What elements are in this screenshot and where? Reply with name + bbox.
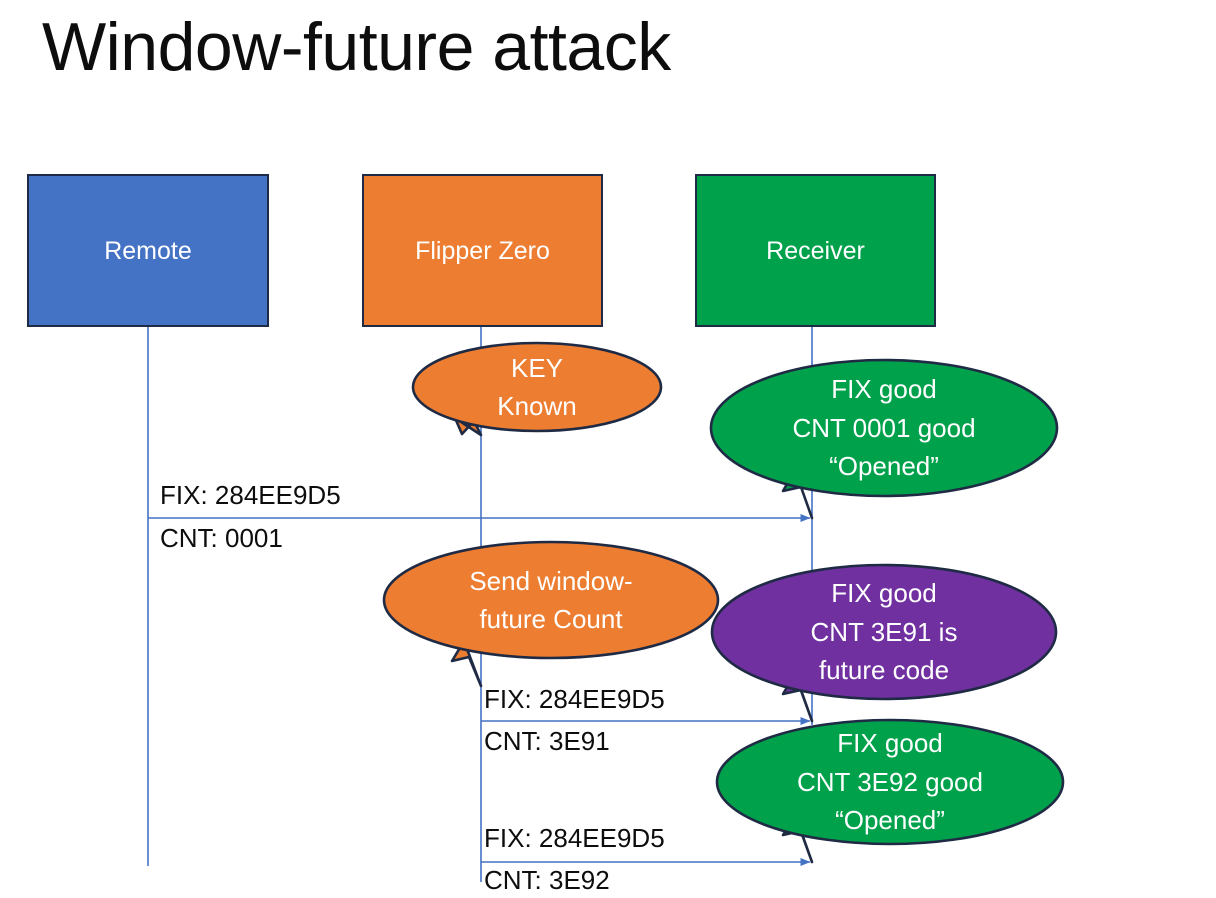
actor-label-receiver: Receiver	[766, 236, 865, 266]
callout-text-fix-good-3e91-future: FIX good CNT 3E91 is future code	[726, 572, 1042, 692]
actor-box-remote[interactable]: Remote	[27, 174, 269, 327]
callout-line: CNT 3E92 good	[797, 763, 983, 801]
slide-canvas: Window-future attack Remote Flipper Zero…	[0, 0, 1216, 898]
callout-line: FIX good	[831, 574, 937, 612]
message-2-fix-label: FIX: 284EE9D5	[484, 685, 665, 713]
message-2-cnt-label: CNT: 3E91	[484, 727, 610, 755]
page-title: Window-future attack	[42, 8, 671, 86]
actor-label-remote: Remote	[104, 236, 192, 266]
callout-line: Known	[497, 387, 577, 425]
callout-line: “Opened”	[829, 447, 939, 485]
callout-text-fix-good-3e92: FIX good CNT 3E92 good “Opened”	[729, 722, 1051, 842]
callout-line: FIX good	[831, 370, 937, 408]
callout-line: Send window-	[469, 562, 632, 600]
callout-text-fix-good-0001: FIX good CNT 0001 good “Opened”	[723, 368, 1045, 488]
message-1-cnt-label: CNT: 0001	[160, 524, 283, 552]
actor-box-flipper-zero[interactable]: Flipper Zero	[362, 174, 603, 327]
callout-line: CNT 3E91 is	[811, 613, 958, 651]
callout-line: future Count	[479, 600, 622, 638]
callout-text-key-known: KEY Known	[432, 347, 642, 427]
message-3-cnt-label: CNT: 3E92	[484, 866, 610, 894]
callout-line: CNT 0001 good	[792, 409, 975, 447]
actor-label-flipper-zero: Flipper Zero	[415, 236, 550, 266]
message-3-fix-label: FIX: 284EE9D5	[484, 824, 665, 852]
callout-line: “Opened”	[835, 801, 945, 839]
callout-line: FIX good	[837, 724, 943, 762]
actor-box-receiver[interactable]: Receiver	[695, 174, 936, 327]
callout-line: future code	[819, 651, 949, 689]
callout-text-send-window-future-count: Send window- future Count	[401, 560, 701, 640]
message-1-fix-label: FIX: 284EE9D5	[160, 481, 341, 509]
callout-line: KEY	[511, 349, 563, 387]
